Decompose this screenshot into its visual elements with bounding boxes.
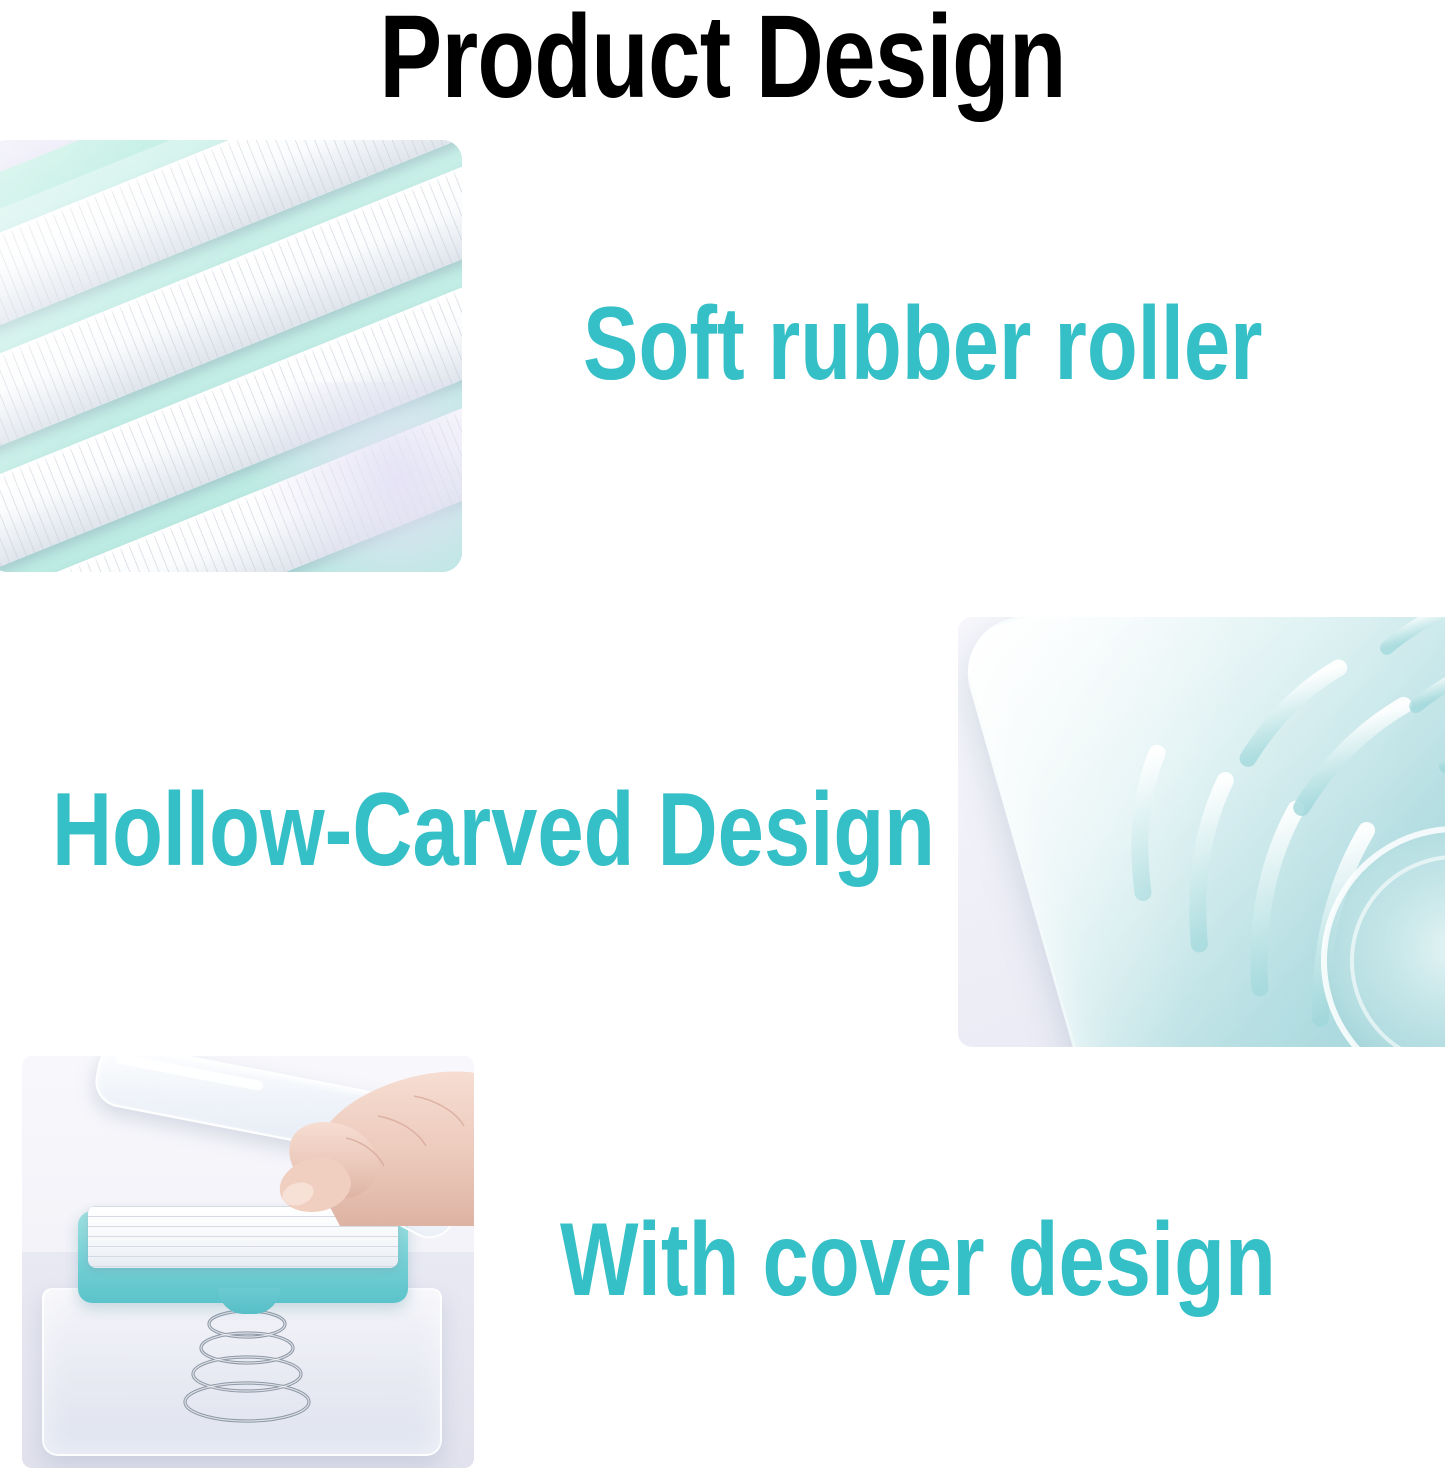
- coil-spring: [172, 1304, 322, 1432]
- product-design-infographic: Product Design Soft rubber roller: [0, 0, 1445, 1468]
- feature-image-hollow-carved-design: [958, 617, 1445, 1047]
- feature-label-soft-rubber-roller: Soft rubber roller: [583, 292, 1263, 396]
- feature-label-text: With cover design: [560, 1208, 1276, 1312]
- feature-label-with-cover-design: With cover design: [560, 1208, 1276, 1312]
- hand-icon: [228, 1056, 474, 1226]
- feature-label-hollow-carved-design: Hollow-Carved Design: [52, 778, 935, 882]
- feature-image-soft-rubber-roller: [0, 140, 462, 572]
- feature-image-with-cover-design: [22, 1056, 474, 1468]
- feature-label-text: Hollow-Carved Design: [52, 778, 935, 882]
- page-title: Product Design: [145, 0, 1301, 120]
- photo1-corner-fade: [242, 382, 462, 572]
- feature-label-text: Soft rubber roller: [583, 292, 1263, 396]
